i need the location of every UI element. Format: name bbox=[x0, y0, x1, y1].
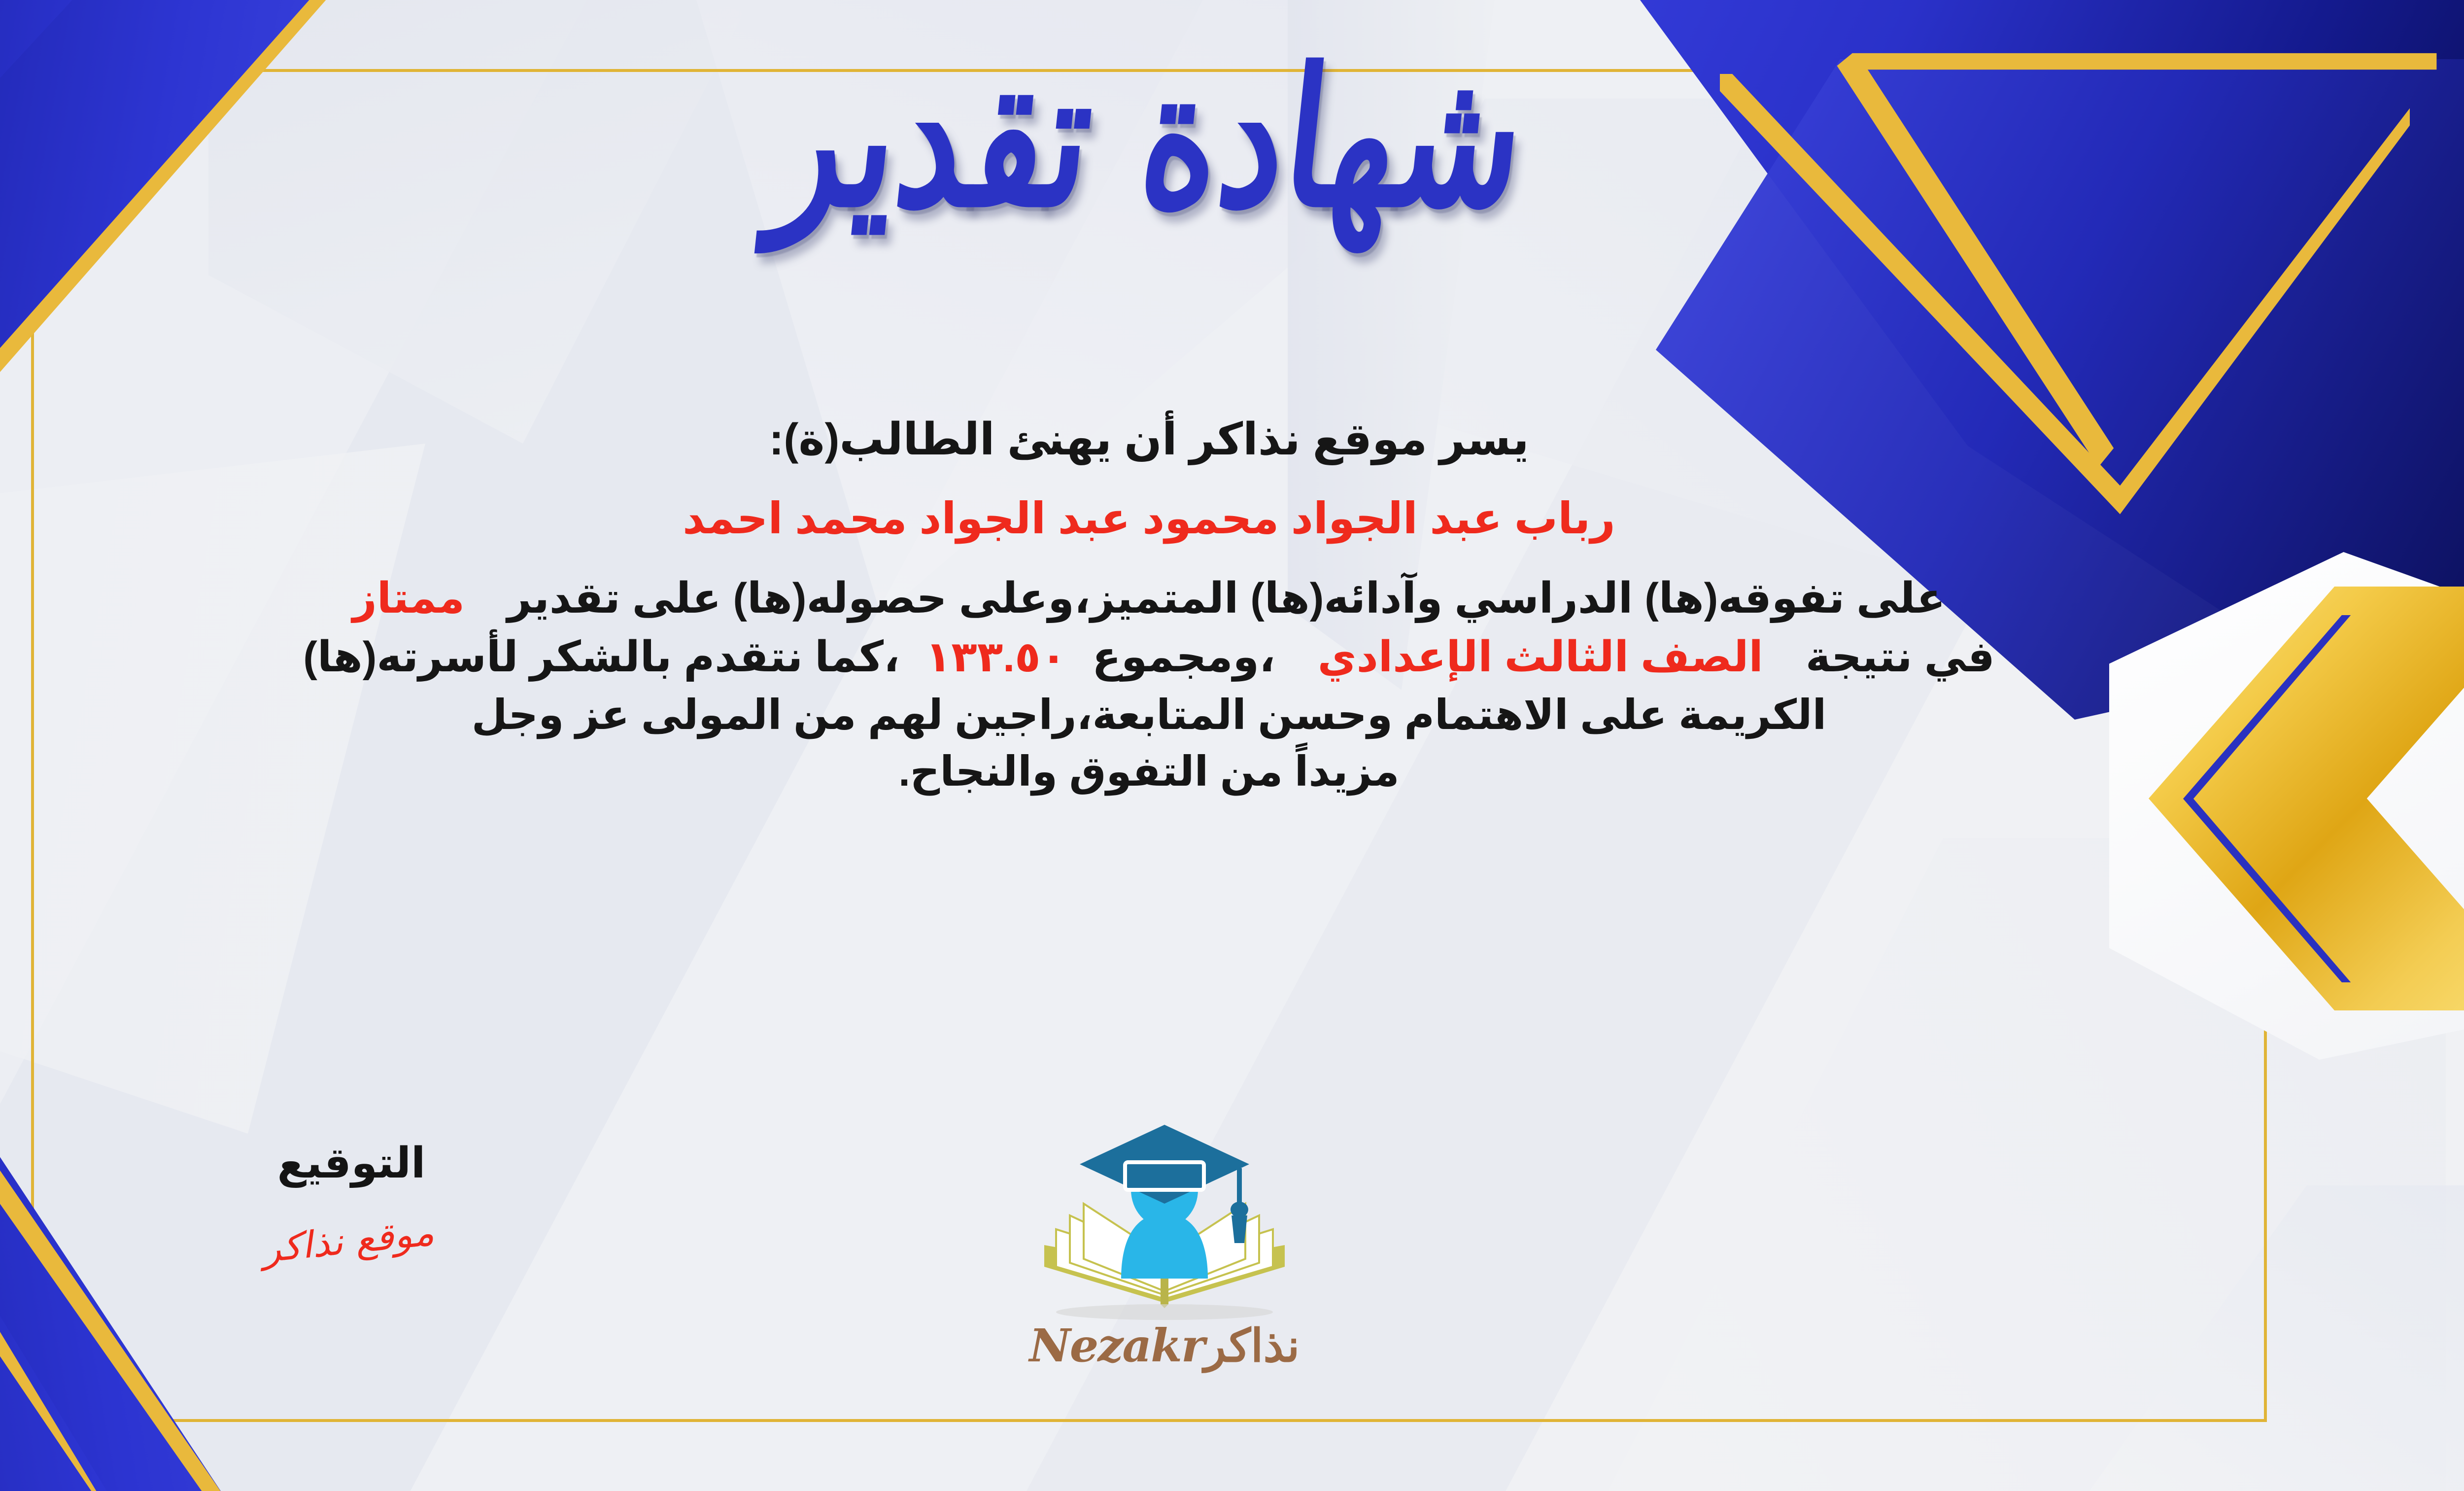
logo-arabic-text: نذاكر bbox=[1204, 1319, 1300, 1372]
grade-rating-value: ممتاز bbox=[352, 575, 465, 622]
signature-label: التوقيع bbox=[179, 1139, 524, 1188]
certificate-title: شهادة تقدير bbox=[0, 43, 2464, 233]
certificate-title-area: شهادة تقدير bbox=[0, 64, 2464, 291]
total-score-value: ١٣٣.٥٠ bbox=[925, 633, 1066, 681]
certificate-canvas: شهادة تقدير يسر موقع نذاكر أن يهنئ الطال… bbox=[0, 0, 2464, 1491]
result-line: في نتيجةالصف الثالث الإعدادي،ومجموع١٣٣.٥… bbox=[0, 628, 2316, 687]
family-thanks-line: الكريمة على الاهتمام وحسن المتابعة،راجين… bbox=[0, 687, 2316, 744]
certificate-body: يسر موقع نذاكر أن يهنئ الطالب(ة): رباب ع… bbox=[0, 409, 2316, 800]
site-logo: نذاكرNezakr bbox=[962, 1119, 1367, 1372]
result-prefix: في نتيجة bbox=[1806, 633, 1995, 681]
intro-line: يسر موقع نذاكر أن يهنئ الطالب(ة): bbox=[0, 409, 2316, 470]
class-name-value: الصف الثالث الإعدادي bbox=[1318, 633, 1763, 681]
closing-wish-line: مزيداً من التفوق والنجاح. bbox=[0, 743, 2316, 800]
student-name: رباب عبد الجواد محمود عبد الجواد محمد اح… bbox=[0, 493, 2316, 544]
graduate-on-book-logo-icon bbox=[1027, 1119, 1302, 1326]
achievement-line: على تفوقه(ها) الدراسي وآدائه(ها) المتميز… bbox=[0, 569, 2316, 628]
signature-block: التوقيع موقع نذاكر bbox=[179, 1139, 524, 1262]
achievement-text: على تفوقه(ها) الدراسي وآدائه(ها) المتميز… bbox=[507, 575, 1946, 622]
total-prefix: ،ومجموع bbox=[1092, 633, 1275, 681]
thanks-text: ،كما نتقدم بالشكر لأسرته(ها) bbox=[303, 633, 900, 681]
logo-latin-text: Nezakr bbox=[1029, 1319, 1204, 1372]
logo-wordmark: نذاكرNezakr bbox=[962, 1319, 1367, 1372]
signature-mark: موقع نذاكر bbox=[263, 1210, 441, 1271]
